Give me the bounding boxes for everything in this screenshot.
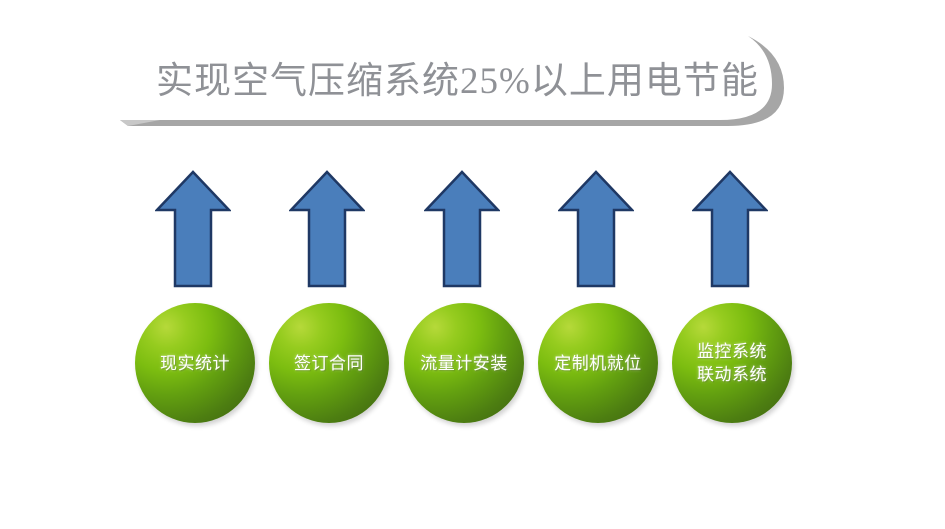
arrow-up-3 xyxy=(424,170,500,288)
step-circle-label: 签订合同 xyxy=(288,352,370,375)
step-circle-3[interactable]: 流量计安装 xyxy=(404,303,524,423)
arrow-up-icon xyxy=(558,170,634,288)
arrow-up-icon xyxy=(692,170,768,288)
step-circle-label: 监控系统 联动系统 xyxy=(691,340,773,386)
arrow-up-5 xyxy=(692,170,768,288)
step-circle-1[interactable]: 现实统计 xyxy=(135,303,255,423)
step-circle-5[interactable]: 监控系统 联动系统 xyxy=(672,303,792,423)
arrow-up-icon xyxy=(289,170,365,288)
arrow-up-2 xyxy=(289,170,365,288)
arrow-up-1 xyxy=(155,170,231,288)
step-circle-2[interactable]: 签订合同 xyxy=(269,303,389,423)
arrow-up-icon xyxy=(155,170,231,288)
step-circle-label: 流量计安装 xyxy=(414,352,514,375)
arrow-up-icon xyxy=(424,170,500,288)
step-circle-label: 定制机就位 xyxy=(548,352,648,375)
page-title: 实现空气压缩系统25%以上用电节能 xyxy=(156,52,756,112)
step-circle-label: 现实统计 xyxy=(154,352,236,375)
step-circle-4[interactable]: 定制机就位 xyxy=(538,303,658,423)
slide-canvas: 实现空气压缩系统25%以上用电节能 现实统计 签订合同 流量计安装 定制机 xyxy=(0,0,945,529)
title-banner: 实现空气压缩系统25%以上用电节能 xyxy=(120,34,800,142)
arrow-up-4 xyxy=(558,170,634,288)
